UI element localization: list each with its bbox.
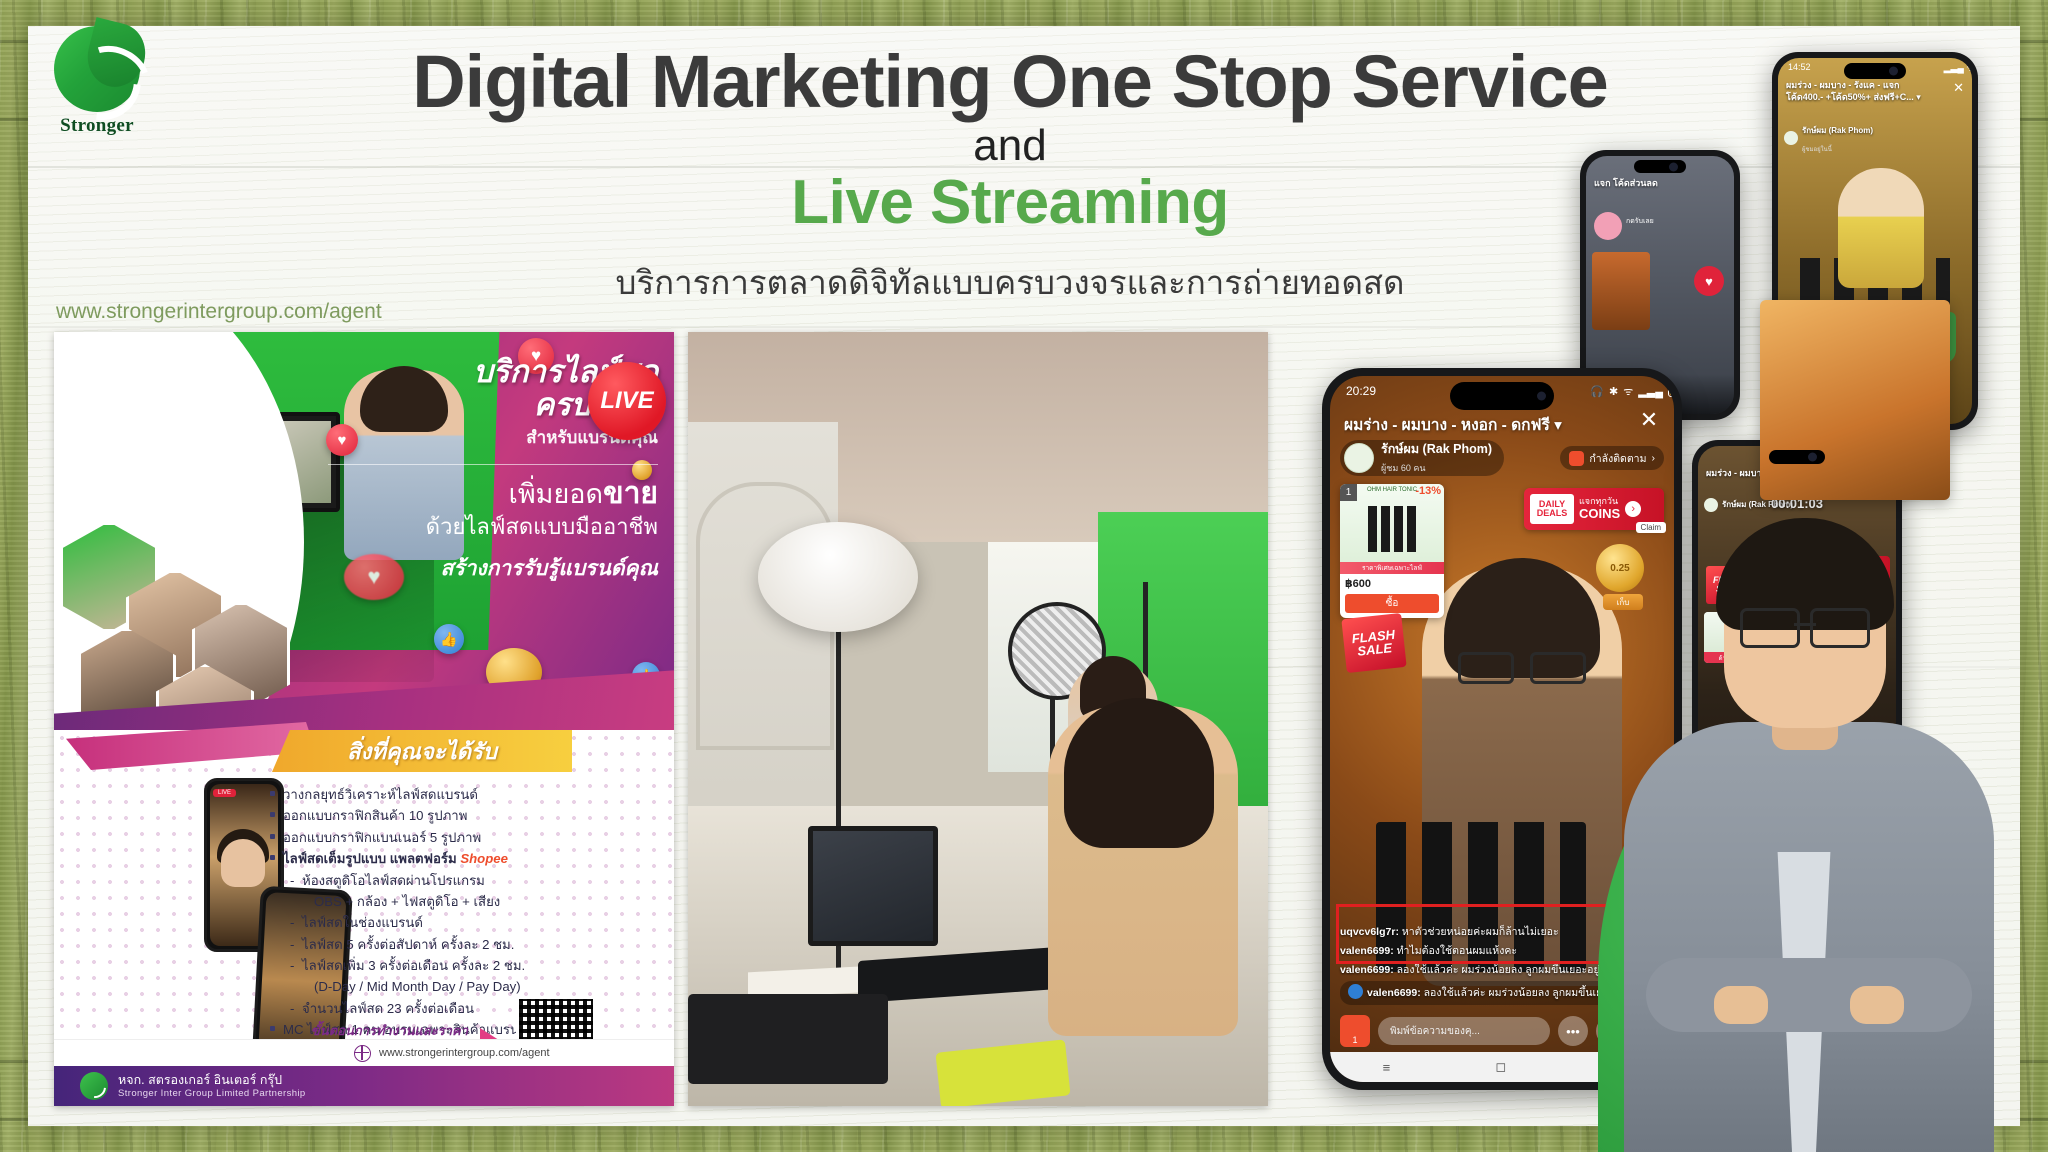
avatar [1784,131,1798,145]
nav-menu-icon[interactable]: ≡ [1383,1060,1391,1075]
seller-chip[interactable]: รักษ์ผม (Rak Phom) ผู้ชม 60 คน [1340,440,1504,476]
benefit-item: ห้องสตูดิโอไลฟ์สดผ่านโปรแกรม [268,870,660,891]
benefit-item: วางกลยุทธ์วิเคราะห์ไลฟ์สดแบรนด์ [268,784,660,805]
softbox-light [758,522,918,632]
status-time: 14:52 [1788,62,1811,72]
close-icon[interactable]: ✕ [1638,410,1660,432]
status-time: 20:29 [1346,384,1376,398]
shop-icon [1569,451,1584,466]
product-discount: -13% [1412,484,1444,498]
status-bar: 20:29 🎧 ✱ ᯤ ▂▃▄ [1330,376,1674,406]
benefit-item: ไลฟ์สดในช่องแบรนด์ [268,912,660,933]
seller-chip[interactable]: รักษ์ผม (Rak Phom) ผู้ชมอยู่ในนี้ [1784,120,1873,156]
bluetooth-icon: ✱ [1609,385,1618,398]
viewer-count: ผู้ชม 60 คน [1381,463,1426,473]
team-hex-gallery [60,402,280,722]
nav-home-icon[interactable]: ◻ [1495,1059,1506,1075]
presenter-photo [1594,512,2024,1152]
flash-sale-badge: FLASH SALE [1341,613,1406,673]
follow-button[interactable]: กำลังติดตาม › [1560,446,1664,470]
close-icon[interactable]: ✕ [1953,80,1964,96]
title-connector: and [300,124,1720,168]
benefit-item: ออกแบบกราฟิกแบนเนอร์ 5 รูปภาพ [268,827,660,848]
benefit-item: ไลฟ์สดเต็มรูปแบบ แพลตฟอร์ม Shopee [268,848,660,869]
website-url[interactable]: www.strongerintergroup.com/agent [56,300,382,324]
buy-button[interactable]: ซื้อ [1345,594,1439,613]
product-card[interactable]: 1 -13% OHM HAIR TONIC ราคาพิเศษเฉพาะไลฟ์… [1340,484,1444,618]
chat-input[interactable]: พิมพ์ข้อความของคุ... [1378,1017,1550,1045]
footer-logo-icon [80,1072,108,1100]
more-icon[interactable]: ••• [1558,1016,1588,1046]
wifi-icon: ᯤ [1623,384,1633,399]
small-phone-title: แจก โค้ดส่วนลด [1594,178,1708,190]
chat-text: ลองใช้แล้วค่ะ ผมร่วงน้อยลง ลูกผมขึ้นเยอะ… [1397,964,1613,976]
benefit-item: ออกแบบกราฟิกสินค้า 10 รูปภาพ [268,805,660,826]
page-title: Digital Marketing One Stop Service [300,44,1720,119]
avatar [1344,443,1374,473]
shopping-bag-icon[interactable]: 1 [1340,1015,1370,1047]
poster-url-bar: www.strongerintergroup.com/agent [54,1039,674,1066]
live-badge: LIVE [588,362,666,440]
brand-logo: Stronger [42,26,152,146]
logo-icon [54,26,140,112]
poster-footer-url[interactable]: www.strongerintergroup.com/agent [379,1047,550,1059]
studio-photo [688,332,1268,1106]
chat-highlight-box [1336,904,1632,964]
product-sale-tag: ราคาพิเศษเฉพาะไลฟ์ [1340,562,1444,574]
company-name-en: Stronger Inter Group Limited Partnership [118,1088,306,1099]
shopee-brand: Shopee [460,851,508,866]
status-icons: ▂▃▄ ᯤ ▮ [1944,61,1972,74]
host-photo [1838,168,1924,288]
food-photo [1760,300,1950,500]
small-phone-sub: กดรับเลย [1626,216,1654,227]
poster-awareness-line: สร้างการรับรู้แบรนด์คุณ [328,552,658,585]
benefit-item: จำนวนไลฟ์สด 23 ครั้งต่อเดือน [268,998,660,1019]
stream-title: ผมร่วง - ผมบาง - รังแค - แจก โค้ด400.- +… [1786,80,1946,103]
poster-benefits-ribbon: สิ่งที่คุณจะได้รับ [272,730,572,772]
chat-username: valen6699: [1367,987,1424,999]
benefit-item: (D-Day / Mid Month Day / Pay Day) [268,976,660,997]
live-tag: LIVE [213,789,236,797]
studio-printer [688,994,888,1084]
benefit-item: ไลฟ์สดเพิ่ม 3 ครั้งต่อเดือน ครั้งละ 2 ชม… [268,955,660,976]
status-bar: 14:52 ▂▃▄ ᯤ ▮ [1778,58,1972,76]
globe-icon [354,1045,371,1062]
benefit-item: ไลฟ์สด 5 ครั้งต่อสัปดาห์ ครั้งละ 2 ชม. [268,934,660,955]
glasses-icon [1740,608,1870,642]
small-phone-product [1592,252,1650,330]
avatar [1704,498,1718,512]
poster-footer: หจก. สตรองเกอร์ อินเตอร์ กรุ๊ป Stronger … [54,1066,674,1106]
studio-person-foreground [1048,706,1238,1036]
stream-title: ผมร่าง - ผมบาง - หงอก - ดกฟรี ▾ [1344,412,1626,437]
benefit-item: OBS + กล้อง + ไฟสตูดิโอ + เสียง [268,891,660,912]
poster-canvas: Stronger Digital Marketing One Stop Serv… [0,0,2048,1152]
poster-sell-line-2: ด้วยไลฟ์สดแบบมืออาชีพ [328,513,658,542]
battery-icon [1668,385,1674,397]
heart-icon[interactable]: ♥ [1694,266,1724,296]
seller-name: รักษ์ผม (Rak Phom) [1381,442,1492,456]
poster-sell-line: เพิ่มยอดขาย [328,475,658,513]
signal-icon: ▂▃▄ [1638,385,1663,398]
thumbs-up-bubble-icon: 👍 [434,624,464,654]
product-price: ฿600 [1340,574,1444,591]
studio-monitor [808,826,938,946]
headphone-icon: 🎧 [1590,385,1604,398]
company-name-th: หจก. สตรองเกอร์ อินเตอร์ กรุ๊ป [118,1073,306,1089]
title-live-streaming: Live Streaming [300,172,1720,234]
product-index: 1 [1340,484,1357,501]
verified-badge-icon [1348,984,1363,999]
service-poster: ♥ ♥ ♥ 👍 👍 บริการไลฟ์สด ครบวงจร สำหรับแบร… [54,332,674,1106]
chat-username: valen6699: [1340,964,1397,976]
thai-subtitle: บริการการตลาดดิจิทัลแบบครบวงจรและการถ่าย… [300,256,1720,309]
